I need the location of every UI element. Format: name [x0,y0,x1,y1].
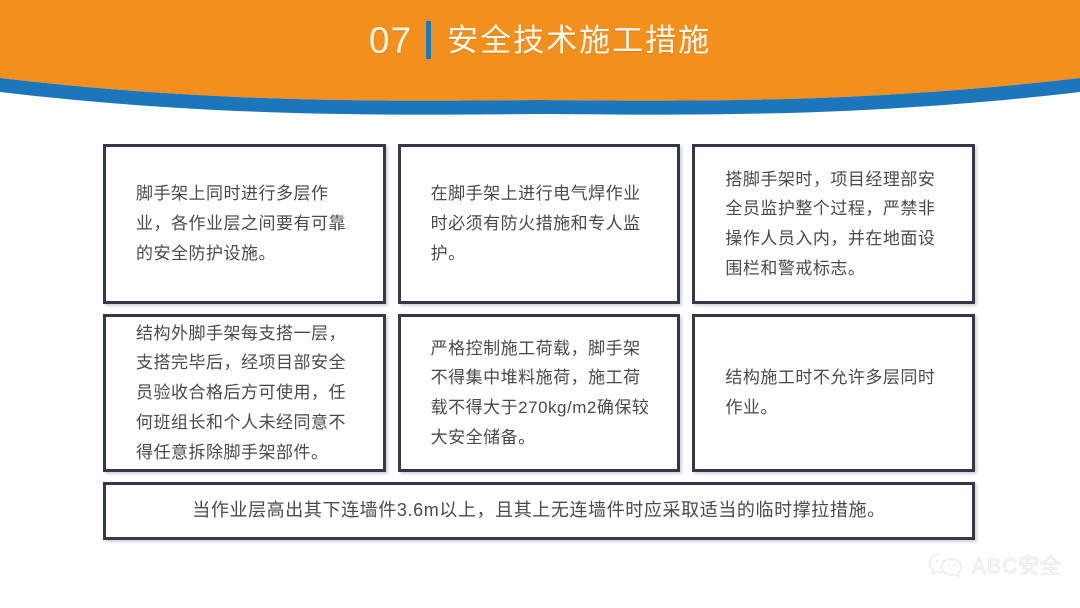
content-card-6: 结构施工时不允许多层同时作业。 [692,314,975,472]
content-card-2-text: 在脚手架上进行电气焊作业时必须有防火措施和专人监护。 [431,179,654,268]
wechat-icon [927,551,965,579]
header-shape [0,0,1080,125]
content-card-5-text: 严格控制施工荷载，脚手架不得集中堆料施荷，施工荷载不得大于270kg/m2确保较… [431,334,654,453]
content-card-3-text: 搭脚手架时，项目经理部安全员监护整个过程，严禁非操作人员入内，并在地面设围栏和警… [725,165,948,284]
footer-note-text: 当作业层高出其下连墙件3.6m以上，且其上无连墙件时应采取适当的临时撑拉措施。 [192,498,885,523]
content-card-4-text: 结构外脚手架每支搭一层，支搭完毕后，经项目部安全员验收合格后方可使用，任何班组长… [136,319,359,468]
content-card-1: 脚手架上同时进行多层作业，各作业层之间要有可靠的安全防护设施。 [103,144,386,304]
content-row-1: 脚手架上同时进行多层作业，各作业层之间要有可靠的安全防护设施。 在脚手架上进行电… [103,144,975,304]
content-row-2: 结构外脚手架每支搭一层，支搭完毕后，经项目部安全员验收合格后方可使用，任何班组长… [103,314,975,472]
footer-note-card: 当作业层高出其下连墙件3.6m以上，且其上无连墙件时应采取适当的临时撑拉措施。 [103,482,975,540]
header-banner: 07 安全技术施工措施 [0,0,1080,125]
content-card-4: 结构外脚手架每支搭一层，支搭完毕后，经项目部安全员验收合格后方可使用，任何班组长… [103,314,386,472]
slide-canvas: 07 安全技术施工措施 脚手架上同时进行多层作业，各作业层之间要有可靠的安全防护… [0,0,1080,608]
watermark: ABC安全 [927,550,1062,580]
content-card-3: 搭脚手架时，项目经理部安全员监护整个过程，严禁非操作人员入内，并在地面设围栏和警… [692,144,975,304]
watermark-text: ABC安全 [972,550,1062,580]
content-card-2: 在脚手架上进行电气焊作业时必须有防火措施和专人监护。 [398,144,681,304]
content-grid: 脚手架上同时进行多层作业，各作业层之间要有可靠的安全防护设施。 在脚手架上进行电… [103,144,975,540]
content-card-5: 严格控制施工荷载，脚手架不得集中堆料施荷，施工荷载不得大于270kg/m2确保较… [398,314,681,472]
header-orange-shape [0,0,1080,101]
content-row-3: 当作业层高出其下连墙件3.6m以上，且其上无连墙件时应采取适当的临时撑拉措施。 [103,482,975,540]
content-card-6-text: 结构施工时不允许多层同时作业。 [725,363,948,423]
content-card-1-text: 脚手架上同时进行多层作业，各作业层之间要有可靠的安全防护设施。 [136,179,359,268]
